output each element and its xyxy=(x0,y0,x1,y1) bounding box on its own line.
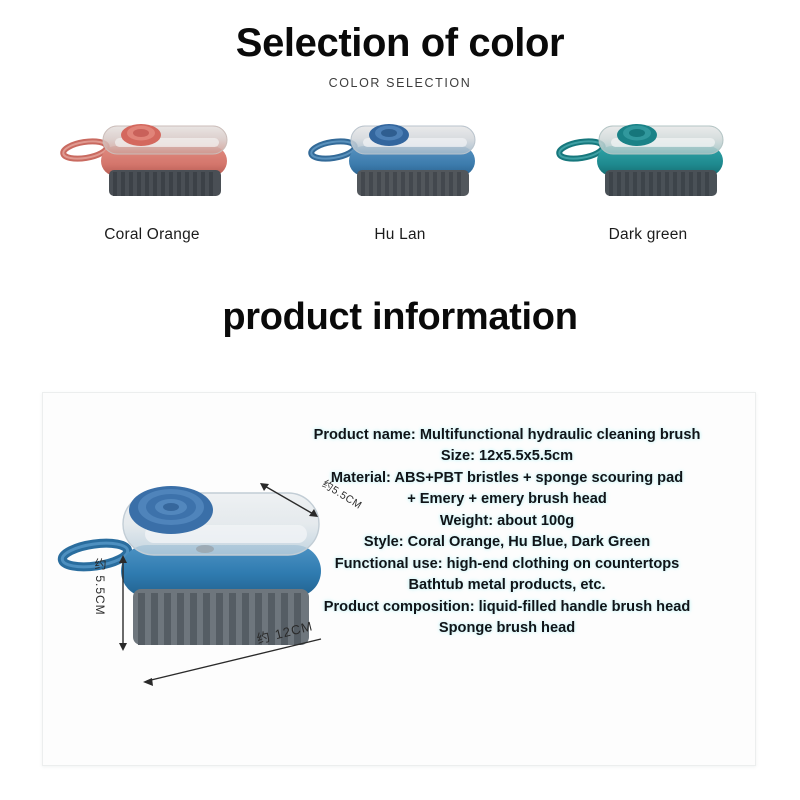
color-option-hu-lan[interactable]: Hu Lan xyxy=(290,114,510,244)
spec-line-composition: Product composition: liquid-filled handl… xyxy=(273,597,741,618)
color-option-label: Coral Orange xyxy=(42,226,262,244)
spec-line-size: Size: 12x5.5x5.5cm xyxy=(273,446,741,467)
pump-button-icon xyxy=(617,124,657,146)
pump-button-icon xyxy=(129,486,213,534)
color-option-dark-green[interactable]: Dark green xyxy=(538,114,758,244)
product-spec-list: Product name: Multifunctional hydraulic … xyxy=(273,425,741,639)
length-dimension-arrow xyxy=(143,639,321,686)
product-information-title: product information xyxy=(0,296,800,339)
spec-line-style: Style: Coral Orange, Hu Blue, Dark Green xyxy=(273,532,741,553)
color-option-coral-orange[interactable]: Coral Orange xyxy=(42,114,262,244)
spec-line-functional-use-cont: Bathtub metal products, etc. xyxy=(273,575,741,596)
hanging-loop-icon xyxy=(62,139,108,162)
hanging-loop-icon xyxy=(310,139,356,162)
dimension-label-height: 约 5.5CM xyxy=(92,558,109,616)
color-selection-section: Selection of color COLOR SELECTION xyxy=(0,0,800,244)
brush-illustration xyxy=(553,114,743,214)
bristles xyxy=(109,170,221,196)
spec-line-weight: Weight: about 100g xyxy=(273,511,741,532)
bristles xyxy=(357,170,469,196)
spec-line-functional-use: Functional use: high-end clothing on cou… xyxy=(273,554,741,575)
hanging-loop-icon xyxy=(558,139,604,162)
color-option-label: Hu Lan xyxy=(290,226,510,244)
bristles xyxy=(605,170,717,196)
page-subtitle: COLOR SELECTION xyxy=(0,76,800,90)
page-title: Selection of color xyxy=(0,0,800,64)
brush-illustration xyxy=(57,114,247,214)
brush-image-dark-green xyxy=(538,114,758,214)
pump-button-icon xyxy=(369,124,409,146)
product-information-card: Product name: Multifunctional hydraulic … xyxy=(42,392,756,766)
spec-line-composition-cont: Sponge brush head xyxy=(273,618,741,639)
color-option-label: Dark green xyxy=(538,226,758,244)
brush-illustration xyxy=(305,114,495,214)
brush-image-hu-lan xyxy=(290,114,510,214)
spec-line-product-name: Product name: Multifunctional hydraulic … xyxy=(273,425,741,446)
color-swatch-row: Coral Orange xyxy=(0,114,800,244)
pump-button-icon xyxy=(121,124,161,146)
brush-image-coral-orange xyxy=(42,114,262,214)
